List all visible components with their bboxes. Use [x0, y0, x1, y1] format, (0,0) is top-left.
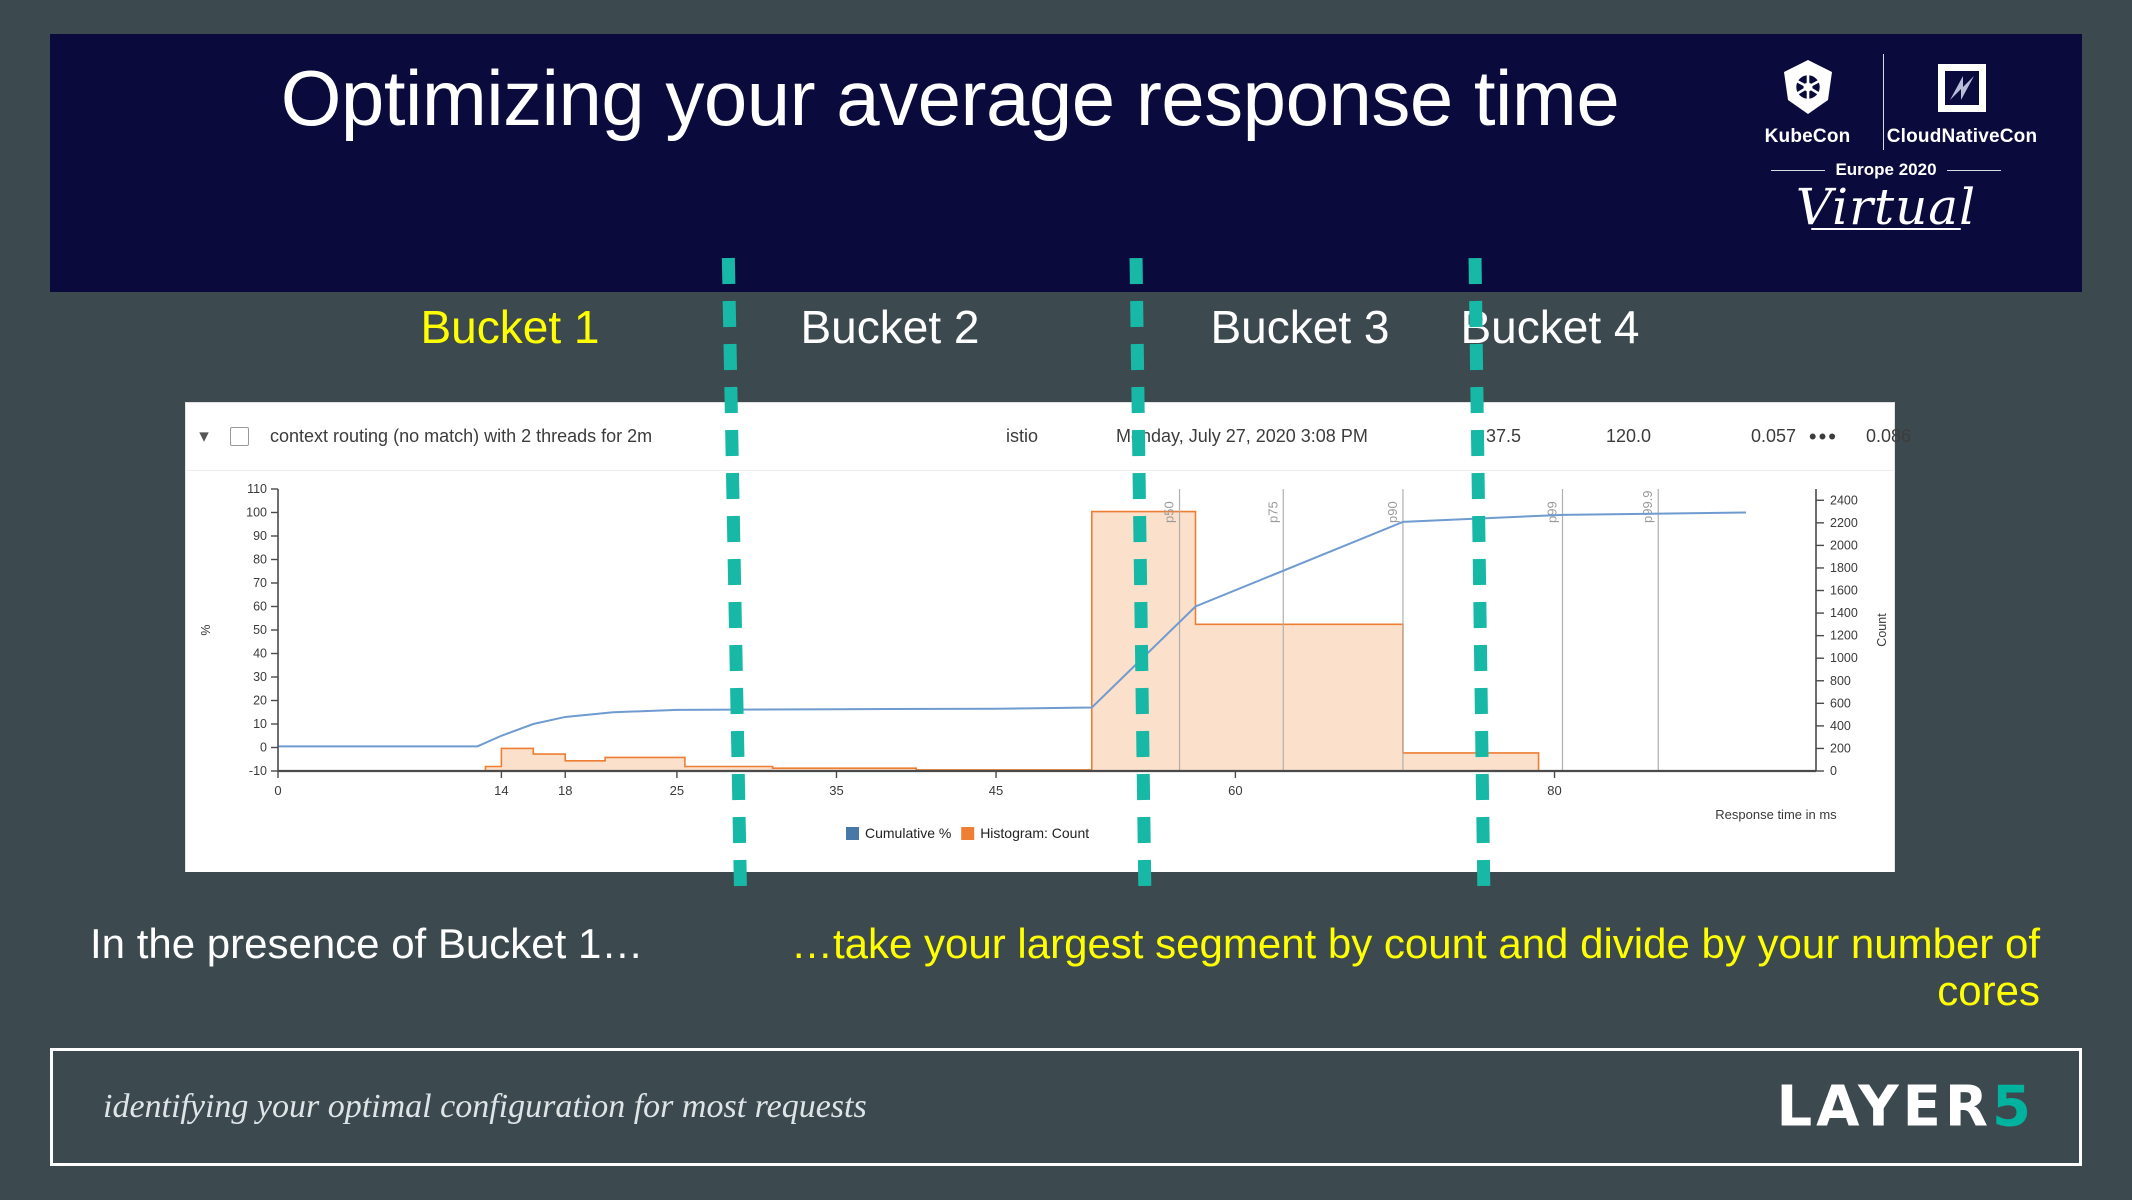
footer-caption: identifying your optimal configuration f… [103, 1088, 867, 1126]
x-tick-label: 35 [829, 783, 843, 798]
bucket-label-1: Bucket 1 [380, 300, 640, 354]
percentile-label-p99.9: p99.9 [1640, 490, 1655, 523]
x-tick-label: 14 [494, 783, 508, 798]
y2-tick-label: 1000 [1830, 651, 1858, 665]
legend-label: Histogram: Count [980, 825, 1089, 841]
x-tick-label: 45 [989, 783, 1003, 798]
y2-tick-label: 0 [1830, 764, 1837, 778]
kubernetes-icon [1776, 56, 1840, 120]
y-tick-label: 10 [253, 717, 267, 731]
y2-tick-label: 1400 [1830, 606, 1858, 620]
bucket-labels: Bucket 1 Bucket 2 Bucket 3 Bucket 4 [0, 300, 2132, 372]
y-axis-label: % [199, 624, 213, 635]
x-tick-label: 0 [274, 783, 281, 798]
y-tick-label: 60 [253, 600, 267, 614]
performance-result-panel: ▾ context routing (no match) with 2 thre… [185, 402, 1895, 872]
timestamp: Monday, July 27, 2020 3:08 PM [1116, 426, 1368, 447]
latency-histogram-chart: p50p75p90p99p99.9-1001020304050607080901… [186, 471, 1894, 872]
page-title: Optimizing your average response time [170, 56, 1730, 140]
y-tick-label: -10 [249, 764, 267, 778]
cumulative-line [278, 513, 1746, 747]
caption-right: …take your largest segment by count and … [790, 920, 2040, 1014]
percentile-label-p50: p50 [1162, 501, 1177, 523]
y-tick-label: 110 [247, 482, 267, 496]
metric-value-3: 0.057 [1751, 426, 1796, 447]
caption-left: In the presence of Bucket 1… [90, 920, 790, 968]
y-tick-label: 40 [253, 647, 267, 661]
bucket-label-2: Bucket 2 [760, 300, 1020, 354]
layer5-logo: LAYER 5 [1776, 1075, 2031, 1140]
legend-swatch [961, 827, 974, 840]
chevron-down-icon[interactable]: ▾ [186, 427, 222, 446]
mesh-name: istio [1006, 426, 1038, 447]
bucket-label-3: Bucket 3 [1170, 300, 1430, 354]
bucket-label-4: Bucket 4 [1420, 300, 1680, 354]
virtual-wordmark: Virtual [1736, 182, 2036, 230]
y-tick-label: 30 [253, 670, 267, 684]
metric-value-1: 37.5 [1486, 426, 1521, 447]
x-tick-label: 18 [558, 783, 572, 798]
y-tick-label: 20 [253, 694, 267, 708]
y2-tick-label: 2400 [1830, 493, 1858, 507]
y-tick-label: 70 [253, 576, 267, 590]
layer5-wordmark: LAYER [1776, 1075, 1992, 1140]
metric-value-4: 0.086 [1866, 426, 1911, 447]
y2-tick-label: 2000 [1830, 538, 1858, 552]
virtual-label: Virtual [1796, 178, 1976, 236]
table-row[interactable]: ▾ context routing (no match) with 2 thre… [186, 403, 1894, 471]
x-tick-label: 60 [1228, 783, 1242, 798]
y-tick-label: 0 [260, 741, 267, 755]
percentile-label-p75: p75 [1265, 501, 1280, 523]
overflow-menu-icon[interactable]: ••• [1809, 430, 1838, 443]
y2-tick-label: 200 [1830, 741, 1851, 755]
row-checkbox[interactable] [222, 427, 256, 446]
edition-rule-right [1947, 170, 2001, 171]
x-axis-label: Response time in ms [1715, 807, 1837, 822]
y2-tick-label: 1800 [1830, 561, 1858, 575]
slide: Optimizing your average response time [0, 0, 2132, 1200]
test-name: context routing (no match) with 2 thread… [270, 426, 652, 447]
logo-divider [1883, 54, 1884, 150]
edition-label: Europe 2020 [1835, 160, 1936, 180]
legend-swatch [846, 827, 859, 840]
chart-svg: p50p75p90p99p99.9-1001020304050607080901… [186, 471, 1894, 870]
y2-tick-label: 400 [1830, 719, 1851, 733]
x-tick-label: 25 [670, 783, 684, 798]
legend-label: Cumulative % [865, 825, 951, 841]
y2-axis-label: Count [1875, 613, 1889, 647]
percentile-label-p90: p90 [1385, 501, 1400, 523]
cloudnativecon-label: CloudNativeCon [1887, 126, 2038, 148]
metric-value-2: 120.0 [1606, 426, 1651, 447]
layer5-five: 5 [1992, 1075, 2031, 1140]
y-tick-label: 90 [253, 529, 267, 543]
edition-rule-left [1771, 170, 1825, 171]
kubecon-cloudnativecon-logo: KubeCon CloudNativeCon Europe 2020 [1736, 52, 2036, 282]
y2-tick-label: 1200 [1830, 629, 1858, 643]
y2-tick-label: 1600 [1830, 584, 1858, 598]
x-tick-label: 80 [1547, 783, 1561, 798]
percentile-label-p99: p99 [1545, 501, 1560, 523]
y-tick-label: 80 [253, 553, 267, 567]
y2-tick-label: 800 [1830, 674, 1851, 688]
cncf-icon [1930, 56, 1994, 120]
slide-header: Optimizing your average response time [50, 34, 2082, 292]
slide-footer: identifying your optimal configuration f… [50, 1048, 2082, 1166]
y2-tick-label: 2200 [1830, 516, 1858, 530]
y2-tick-label: 600 [1830, 696, 1851, 710]
histogram-area [278, 512, 1746, 771]
kubecon-label: KubeCon [1765, 126, 1851, 148]
y-tick-label: 50 [253, 623, 267, 637]
y-tick-label: 100 [246, 506, 267, 520]
